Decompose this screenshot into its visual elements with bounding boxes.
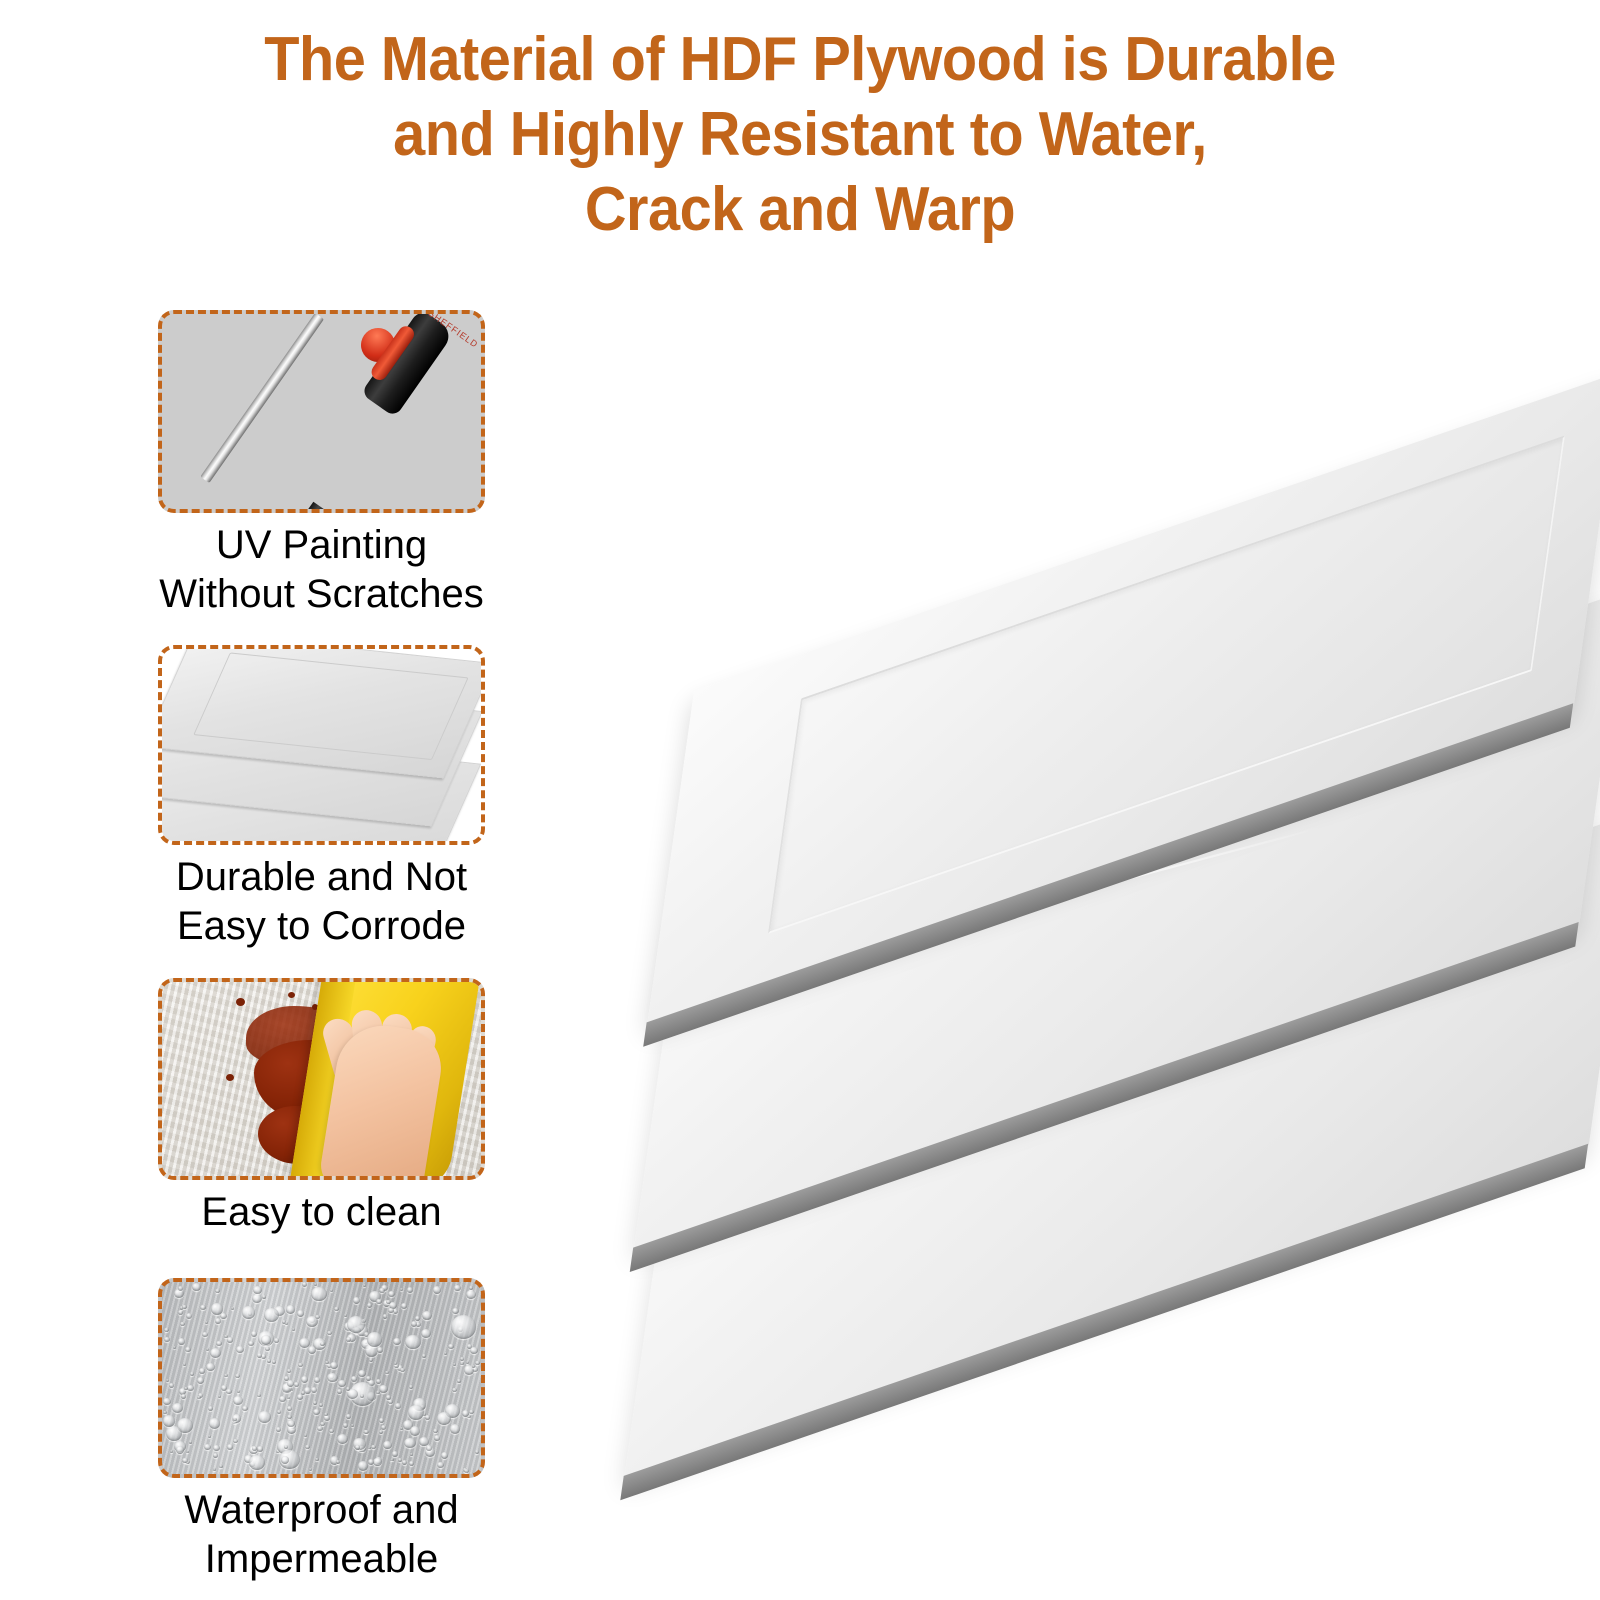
water-droplet xyxy=(407,1287,413,1293)
water-droplet xyxy=(209,1418,221,1429)
water-droplet xyxy=(163,1415,176,1427)
water-droplet xyxy=(226,1389,232,1394)
mini-panel-inset xyxy=(193,652,468,760)
water-droplet xyxy=(437,1462,444,1469)
feature-image-uv-painting: SHEFFIELD xyxy=(158,310,485,513)
water-droplet xyxy=(235,1374,240,1379)
water-droplet xyxy=(319,1403,323,1407)
water-droplet xyxy=(338,1380,346,1387)
water-droplet xyxy=(371,1445,376,1449)
water-droplet xyxy=(163,1411,167,1414)
water-droplet xyxy=(324,1415,330,1421)
water-droplet xyxy=(208,1406,213,1411)
water-droplet xyxy=(386,1395,391,1399)
water-droplet xyxy=(426,1445,433,1451)
water-droplet xyxy=(450,1424,461,1434)
water-droplet xyxy=(360,1394,364,1398)
water-droplet xyxy=(224,1335,227,1338)
water-droplet xyxy=(410,1426,421,1436)
feature-caption-uv-painting: UV Painting Without Scratches xyxy=(158,521,485,619)
water-droplet xyxy=(388,1400,393,1404)
water-droplet xyxy=(401,1303,407,1309)
feature-easy-to-clean: Easy to clean xyxy=(158,978,485,1237)
water-droplet xyxy=(415,1316,420,1320)
water-droplet xyxy=(252,1446,257,1451)
water-droplet xyxy=(422,1354,426,1358)
water-droplet xyxy=(249,1455,265,1470)
water-droplet xyxy=(227,1444,233,1450)
water-droplet xyxy=(166,1426,182,1441)
water-droplet xyxy=(292,1328,295,1331)
water-droplet xyxy=(279,1396,286,1402)
water-droplet xyxy=(257,1353,262,1357)
stain-droplet xyxy=(236,998,245,1006)
water-droplet xyxy=(466,1361,469,1364)
water-droplet xyxy=(265,1347,270,1351)
feature-image-easy-to-clean xyxy=(158,978,485,1180)
water-droplet xyxy=(308,1346,317,1354)
water-droplet xyxy=(164,1337,170,1342)
water-droplet xyxy=(460,1357,464,1361)
water-droplet xyxy=(422,1311,432,1320)
water-droplet xyxy=(452,1388,457,1393)
screwdriver-tip-icon xyxy=(290,502,325,513)
water-droplet xyxy=(164,1328,169,1333)
water-droplet xyxy=(185,1347,190,1352)
water-droplet xyxy=(383,1314,388,1318)
water-droplet xyxy=(304,1387,311,1393)
water-droplet xyxy=(457,1379,461,1382)
water-droplet xyxy=(317,1426,323,1432)
water-droplet xyxy=(213,1445,219,1451)
water-droplet xyxy=(231,1307,234,1310)
water-droplet xyxy=(434,1435,440,1441)
water-droplet xyxy=(466,1290,476,1299)
water-droplet xyxy=(297,1394,303,1400)
water-droplet xyxy=(386,1300,391,1304)
water-droplet xyxy=(242,1306,256,1319)
water-droplet xyxy=(216,1341,222,1346)
water-droplet xyxy=(252,1294,262,1303)
water-droplet xyxy=(334,1307,339,1312)
water-droplet xyxy=(336,1460,340,1464)
water-droplet xyxy=(355,1445,360,1449)
water-droplet xyxy=(368,1459,375,1465)
water-droplet xyxy=(189,1440,193,1443)
water-droplet xyxy=(346,1387,350,1391)
water-droplet xyxy=(409,1385,413,1389)
water-droplet xyxy=(454,1285,461,1291)
water-droplet xyxy=(190,1372,194,1376)
water-droplet xyxy=(176,1446,185,1454)
water-droplet xyxy=(227,1337,233,1343)
water-droplet xyxy=(236,1346,244,1354)
screwdriver-shaft-icon xyxy=(200,313,324,483)
feature-durable: Durable and Not Easy to Corrode xyxy=(158,645,485,951)
water-droplet xyxy=(277,1410,281,1414)
water-droplet xyxy=(187,1385,194,1391)
water-droplet xyxy=(178,1286,183,1291)
water-droplet xyxy=(302,1282,307,1287)
water-droplet xyxy=(400,1368,405,1373)
water-droplet xyxy=(346,1337,351,1342)
water-droplet xyxy=(166,1379,169,1382)
water-droplet xyxy=(233,1439,238,1443)
water-droplet xyxy=(170,1450,174,1453)
water-droplet xyxy=(470,1347,478,1354)
water-droplet xyxy=(248,1341,254,1346)
water-droplet xyxy=(405,1335,420,1349)
water-droplet xyxy=(287,1420,295,1427)
water-droplet xyxy=(284,1445,288,1449)
page-title: The Material of HDF Plywood is Durable a… xyxy=(168,22,1433,247)
water-droplet xyxy=(233,1418,236,1421)
water-droplet xyxy=(301,1376,308,1383)
water-droplet xyxy=(347,1316,365,1333)
water-droplet xyxy=(199,1368,205,1374)
water-droplet xyxy=(267,1359,271,1362)
infographic-canvas: The Material of HDF Plywood is Durable a… xyxy=(0,0,1600,1600)
feature-waterproof: Waterproof and Impermeable xyxy=(158,1278,485,1584)
water-droplet xyxy=(314,1377,320,1383)
water-droplet xyxy=(451,1315,477,1339)
water-droplet xyxy=(281,1456,289,1464)
water-droplet xyxy=(385,1371,389,1375)
water-droplet xyxy=(163,1398,171,1406)
water-droplet xyxy=(346,1414,351,1418)
water-droplet xyxy=(237,1390,240,1393)
feature-caption-waterproof: Waterproof and Impermeable xyxy=(158,1486,485,1584)
water-droplet xyxy=(392,1451,399,1457)
water-droplet xyxy=(363,1284,366,1287)
water-droplet xyxy=(453,1363,456,1366)
water-droplet xyxy=(421,1329,431,1338)
water-droplet xyxy=(367,1332,383,1347)
water-droplet xyxy=(472,1365,475,1368)
water-droplet xyxy=(358,1461,368,1471)
water-droplet xyxy=(178,1310,184,1315)
water-droplet xyxy=(313,1409,320,1415)
water-droplet xyxy=(180,1322,185,1326)
water-droplet xyxy=(379,1418,385,1423)
water-droplet xyxy=(411,1321,417,1327)
water-droplet xyxy=(469,1286,473,1290)
stain-droplet xyxy=(226,1074,234,1081)
water-droplet xyxy=(181,1394,187,1399)
water-droplet xyxy=(325,1361,329,1364)
water-droplet xyxy=(172,1403,183,1413)
water-droplet xyxy=(452,1308,459,1314)
water-droplet xyxy=(287,1406,292,1411)
water-droplet xyxy=(215,1318,221,1324)
water-droplet xyxy=(373,1458,382,1466)
feature-caption-easy-to-clean: Easy to clean xyxy=(158,1188,485,1237)
water-droplet xyxy=(315,1458,319,1461)
water-droplet xyxy=(337,1389,342,1394)
water-droplet xyxy=(286,1305,295,1313)
water-droplet xyxy=(351,1376,357,1382)
water-droplet xyxy=(469,1410,474,1414)
water-droplet xyxy=(327,1373,337,1383)
water-droplet xyxy=(204,1444,211,1450)
water-droplet xyxy=(184,1387,188,1390)
water-droplet xyxy=(220,1313,227,1319)
water-droplet xyxy=(343,1423,348,1428)
water-droplet xyxy=(320,1342,324,1346)
water-droplet xyxy=(262,1295,266,1299)
feature-uv-painting: SHEFFIELD UV Painting Without Scratches xyxy=(158,310,485,619)
water-droplet xyxy=(305,1445,310,1449)
stain-droplet xyxy=(288,992,295,998)
water-droplet xyxy=(314,1283,317,1286)
water-droplet xyxy=(353,1297,361,1304)
water-droplet xyxy=(369,1358,373,1362)
water-droplet xyxy=(178,1338,185,1344)
water-droplet xyxy=(377,1347,383,1352)
water-droplet xyxy=(383,1441,391,1449)
water-droplet xyxy=(441,1452,449,1459)
feature-caption-durable: Durable and Not Easy to Corrode xyxy=(158,853,485,951)
water-droplet xyxy=(183,1363,186,1366)
feature-image-durable xyxy=(158,645,485,845)
water-droplet xyxy=(425,1415,430,1420)
water-droplet xyxy=(274,1338,279,1343)
feature-image-waterproof xyxy=(158,1278,485,1478)
product-image-hdf-panels xyxy=(600,430,1600,1450)
water-droplet xyxy=(464,1469,469,1474)
